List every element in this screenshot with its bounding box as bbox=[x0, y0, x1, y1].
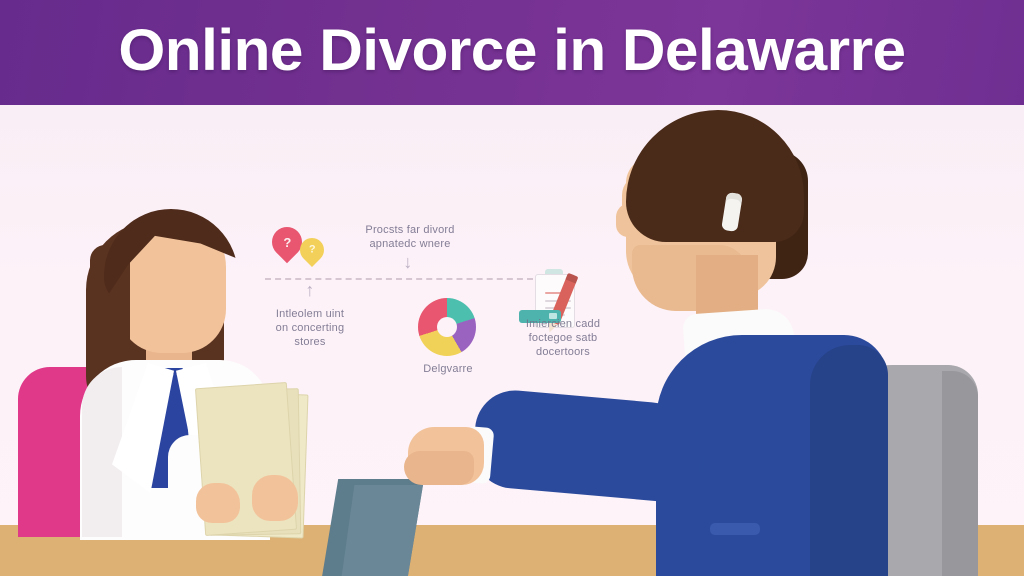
man-suit-pocket bbox=[710, 523, 760, 535]
scene-background: ? ? Procsts far divord apnatedc wnere ↓ … bbox=[0, 105, 1024, 576]
donut-chart-label: Delgvarre bbox=[390, 362, 506, 376]
woman-hand-right bbox=[252, 475, 298, 521]
man-typing-on-laptop bbox=[560, 105, 1024, 576]
man-suit-shade bbox=[810, 345, 888, 576]
gray-chair-shadow bbox=[942, 371, 978, 576]
arrow-down-icon: ↓ bbox=[388, 255, 428, 269]
header-banner: Online Divorce in Delawarre bbox=[0, 0, 1024, 105]
laptop-screen bbox=[314, 479, 424, 576]
donut-chart bbox=[418, 298, 476, 356]
man-hair bbox=[626, 110, 804, 242]
man-fingers bbox=[404, 451, 474, 485]
donut-chart-hole bbox=[437, 317, 457, 337]
woman-hand-left bbox=[196, 483, 240, 523]
woman-coat-shadow bbox=[82, 367, 122, 537]
page-title: Online Divorce in Delawarre bbox=[0, 0, 1024, 105]
illustration-canvas: Online Divorce in Delawarre ? ? Procsts … bbox=[0, 0, 1024, 576]
